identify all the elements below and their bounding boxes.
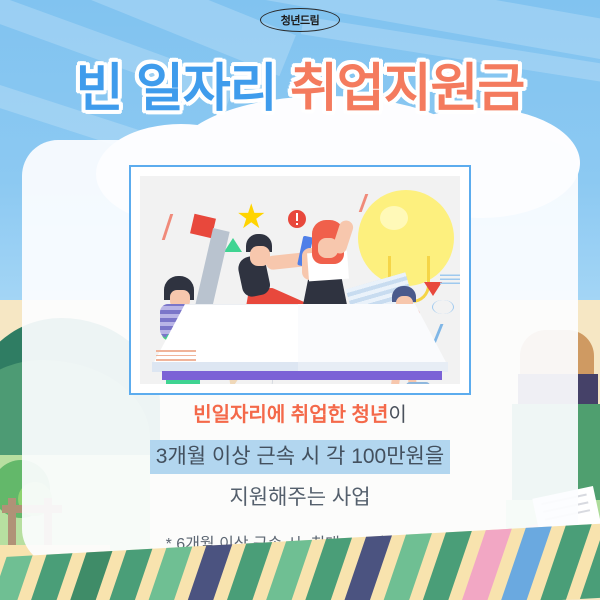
accent-stroke <box>162 214 173 240</box>
book-lines <box>156 350 196 360</box>
body-line-1: 빈일자리에 취업한 청년이 <box>0 400 600 430</box>
body-line-2-wrapper: 3개월 이상 근속 시 각 100만원을 <box>0 440 600 474</box>
exclamation-badge <box>288 210 306 228</box>
hatch-marks <box>440 272 460 284</box>
poster-root: 청년드림 빈 일자리 취업지원금 ★ <box>0 0 600 600</box>
page-title-part2: 취업지원금 <box>290 60 524 118</box>
body-line-1-tail: 이 <box>388 404 406 426</box>
body-line-3: 지원해주는 사업 <box>0 484 600 512</box>
book-spine <box>162 371 442 380</box>
brand-badge: 청년드림 <box>260 8 340 32</box>
page-title: 빈 일자리 취업지원금 <box>0 46 600 121</box>
illustration-frame: ★ <box>129 165 471 395</box>
open-book <box>140 302 460 384</box>
brand-badge-label: 청년드림 <box>281 12 319 28</box>
red-triangle-icon <box>424 282 442 296</box>
page-title-part1: 빈 일자리 <box>76 60 277 118</box>
book-page-right <box>298 304 448 366</box>
lightbulb-glow <box>380 206 408 230</box>
illustration-canvas: ★ <box>140 176 460 384</box>
body-line-2: 3개월 이상 근속 시 각 100만원을 <box>150 440 450 474</box>
body-line-1-highlight: 빈일자리에 취업한 청년 <box>193 404 388 426</box>
